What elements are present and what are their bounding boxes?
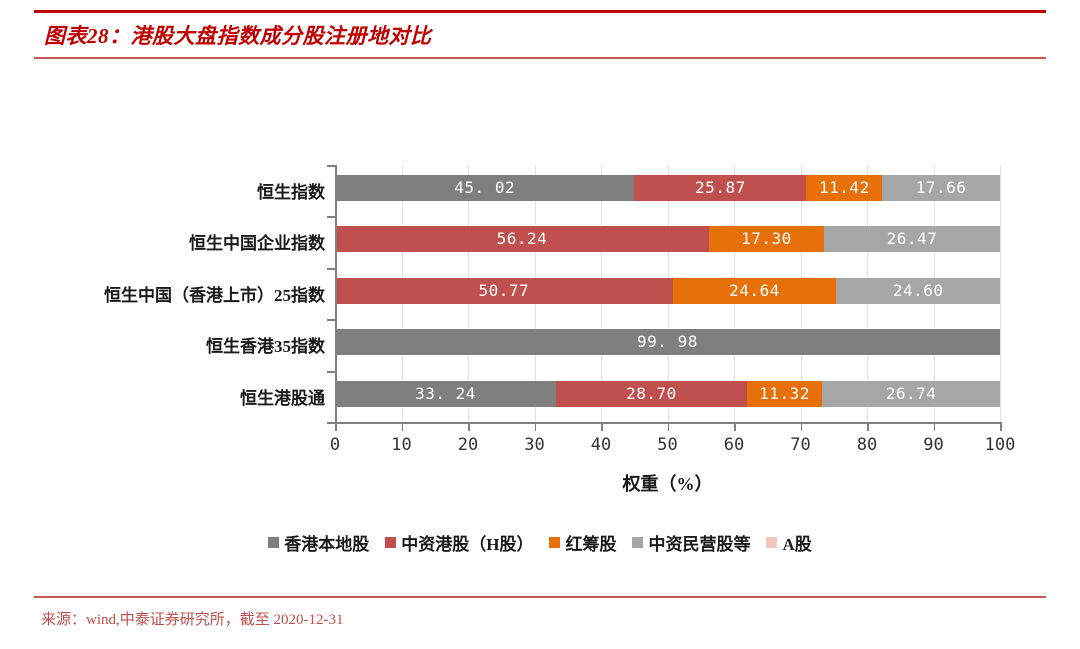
legend-swatch-icon xyxy=(385,537,396,548)
bar-value-label: 24.64 xyxy=(729,283,780,299)
y-axis-line xyxy=(335,165,337,424)
x-axis-tick-label: 80 xyxy=(857,435,877,455)
x-axis-tick-label: 50 xyxy=(657,435,677,455)
x-axis-tick-label: 70 xyxy=(790,435,810,455)
x-axis-title: 权重（%） xyxy=(335,470,1000,496)
bar-row[interactable]: 56.2417.3026.47 xyxy=(335,226,1000,252)
legend-label: 中资港股（H股） xyxy=(401,530,533,555)
x-axis-tick-label: 100 xyxy=(985,435,1016,455)
legend-swatch-icon xyxy=(268,537,279,548)
bar-row[interactable]: 99. 98 xyxy=(335,329,1000,355)
category-label: 恒生港股通 xyxy=(0,384,325,409)
bar-segment[interactable]: 45. 02 xyxy=(335,175,634,201)
legend-swatch-icon xyxy=(549,537,560,548)
x-axis-tick xyxy=(601,424,603,431)
x-axis-tick xyxy=(934,424,936,431)
header-rule-top xyxy=(34,10,1046,13)
page-title: 图表28：港股大盘指数成分股注册地对比 xyxy=(44,20,432,50)
legend-item[interactable]: 红筹股 xyxy=(549,530,616,555)
bar-value-label: 17.30 xyxy=(741,231,792,247)
bar-value-label: 33. 24 xyxy=(415,386,476,402)
x-axis-tick xyxy=(1000,424,1002,431)
bar-value-label: 45. 02 xyxy=(454,180,515,196)
legend-label: 中资民营股等 xyxy=(648,530,750,555)
x-axis-tick-label: 90 xyxy=(923,435,943,455)
legend-swatch-icon xyxy=(766,537,777,548)
footer-rule xyxy=(34,596,1046,598)
bar-value-label: 17.66 xyxy=(916,180,967,196)
x-axis-tick xyxy=(801,424,803,431)
y-axis-tick xyxy=(327,165,335,167)
bar-segment[interactable]: 50.77 xyxy=(335,278,673,304)
bar-value-label: 56.24 xyxy=(497,231,548,247)
legend-label: 红筹股 xyxy=(565,530,616,555)
bar-segment[interactable]: 33. 24 xyxy=(335,381,556,407)
bar-value-label: 25.87 xyxy=(695,180,746,196)
bar-segment[interactable]: 24.60 xyxy=(836,278,1000,304)
bar-segment[interactable]: 17.30 xyxy=(709,226,824,252)
x-axis-tick xyxy=(734,424,736,431)
legend-item[interactable]: A股 xyxy=(766,530,811,555)
header-rule-bottom xyxy=(34,57,1046,59)
bar-segment[interactable]: 24.64 xyxy=(673,278,837,304)
y-axis-tick xyxy=(327,216,335,218)
bar-value-label: 11.32 xyxy=(759,386,810,402)
legend-item[interactable]: 香港本地股 xyxy=(268,530,369,555)
x-axis-tick xyxy=(335,424,337,431)
bar-value-label: 50.77 xyxy=(478,283,529,299)
x-axis-tick-label: 30 xyxy=(524,435,544,455)
y-axis-tick xyxy=(327,422,335,424)
category-label: 恒生香港35指数 xyxy=(0,332,325,357)
source-note: 来源：wind,中泰证券研究所，截至 2020-12-31 xyxy=(41,608,344,629)
bar-value-label: 99. 98 xyxy=(637,334,698,350)
x-axis-tick xyxy=(468,424,470,431)
legend-item[interactable]: 中资民营股等 xyxy=(632,530,750,555)
y-axis-tick xyxy=(327,268,335,270)
legend-item[interactable]: 中资港股（H股） xyxy=(385,530,533,555)
bar-segment[interactable]: 11.32 xyxy=(747,381,822,407)
category-label: 恒生指数 xyxy=(0,178,325,203)
bar-value-label: 26.47 xyxy=(887,231,938,247)
bar-segment[interactable]: 17.66 xyxy=(882,175,999,201)
y-axis-tick xyxy=(327,371,335,373)
x-axis-tick xyxy=(535,424,537,431)
chart-legend: 香港本地股中资港股（H股）红筹股中资民营股等A股 xyxy=(0,530,1080,555)
x-axis-tick-label: 40 xyxy=(591,435,611,455)
category-label: 恒生中国企业指数 xyxy=(0,229,325,254)
x-axis-tick-label: 0 xyxy=(330,435,340,455)
bar-segment[interactable]: 99. 98 xyxy=(335,329,1000,355)
bar-value-label: 24.60 xyxy=(893,283,944,299)
x-axis-tick xyxy=(668,424,670,431)
bar-segment[interactable]: 26.74 xyxy=(822,381,1000,407)
x-axis-tick xyxy=(867,424,869,431)
legend-swatch-icon xyxy=(632,537,643,548)
x-axis-tick-label: 20 xyxy=(458,435,478,455)
gridline xyxy=(1000,165,1001,422)
bar-segment[interactable]: 28.70 xyxy=(556,381,747,407)
bar-value-label: 28.70 xyxy=(626,386,677,402)
bar-row[interactable]: 33. 2428.7011.3226.74 xyxy=(335,381,1000,407)
legend-label: A股 xyxy=(782,530,811,555)
x-axis-tick xyxy=(402,424,404,431)
bar-segment[interactable]: 56.24 xyxy=(335,226,709,252)
legend-label: 香港本地股 xyxy=(284,530,369,555)
y-axis-tick xyxy=(327,319,335,321)
bar-value-label: 26.74 xyxy=(886,386,937,402)
bar-row[interactable]: 50.7724.6424.60 xyxy=(335,278,1000,304)
bar-value-label: 11.42 xyxy=(819,180,870,196)
category-label: 恒生中国（香港上市）25指数 xyxy=(0,281,325,306)
chart-container: 45. 0225.8711.4217.6656.2417.3026.4750.7… xyxy=(0,150,1080,550)
bar-segment[interactable]: 11.42 xyxy=(806,175,882,201)
x-axis-tick-label: 10 xyxy=(391,435,411,455)
bar-segment[interactable]: 25.87 xyxy=(634,175,806,201)
bar-row[interactable]: 45. 0225.8711.4217.66 xyxy=(335,175,1000,201)
x-axis-tick-label: 60 xyxy=(724,435,744,455)
bar-segment[interactable]: 26.47 xyxy=(824,226,1000,252)
